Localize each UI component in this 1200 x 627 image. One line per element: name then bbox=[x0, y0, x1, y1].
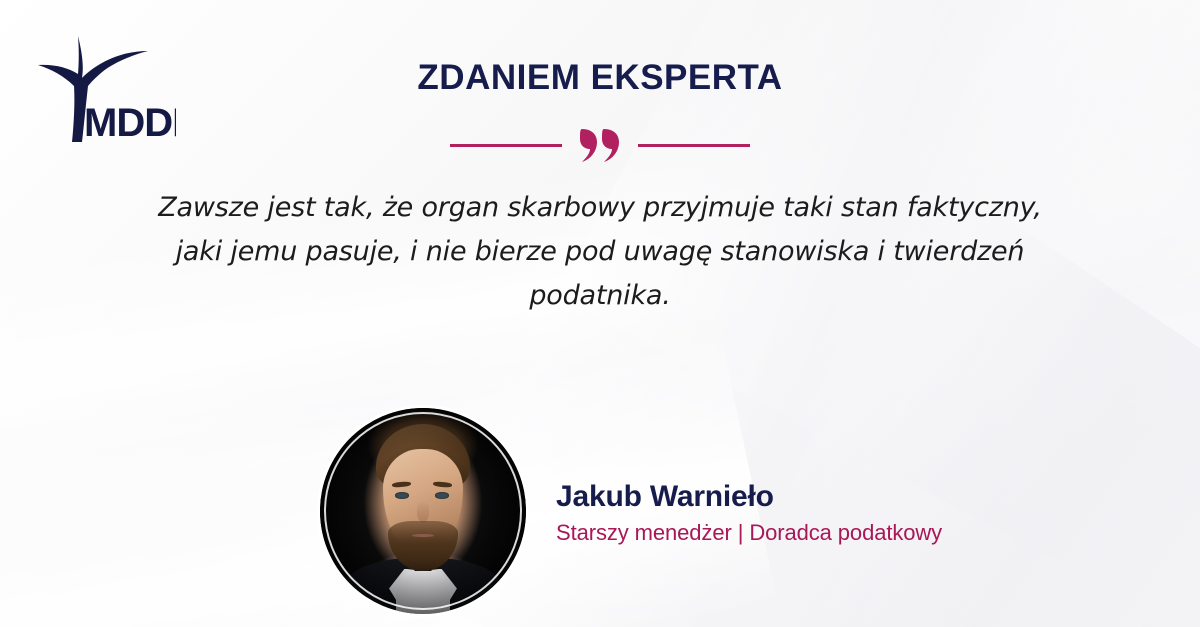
page-title: ZDANIEM EKSPERTA bbox=[0, 58, 1200, 98]
divider-rule-right bbox=[638, 144, 750, 147]
author-name: Jakub Warnieło bbox=[556, 478, 1116, 516]
author-role: Starszy menedżer | Doradca podatkowy bbox=[556, 516, 1116, 550]
divider-rule-left bbox=[450, 144, 562, 147]
quote-text: Zawsze jest tak, że organ skarbowy przyj… bbox=[120, 186, 1080, 318]
author-avatar bbox=[320, 408, 526, 614]
divider bbox=[0, 125, 1200, 165]
portrait-vignette bbox=[320, 408, 526, 614]
quote-line: jaki jemu pasuje, i nie bierze pod uwagę… bbox=[120, 230, 1080, 274]
quote-line: podatnika. bbox=[120, 274, 1080, 318]
double-quote-close-icon bbox=[578, 127, 622, 163]
quote-line: Zawsze jest tak, że organ skarbowy przyj… bbox=[120, 186, 1080, 230]
author-attribution: Jakub Warnieło Starszy menedżer | Doradc… bbox=[556, 478, 1116, 550]
expert-quote-card: MDDP ZDANIEM EKSPERTA Zawsze jest tak, ż… bbox=[0, 0, 1200, 627]
portrait-photo bbox=[320, 408, 526, 614]
